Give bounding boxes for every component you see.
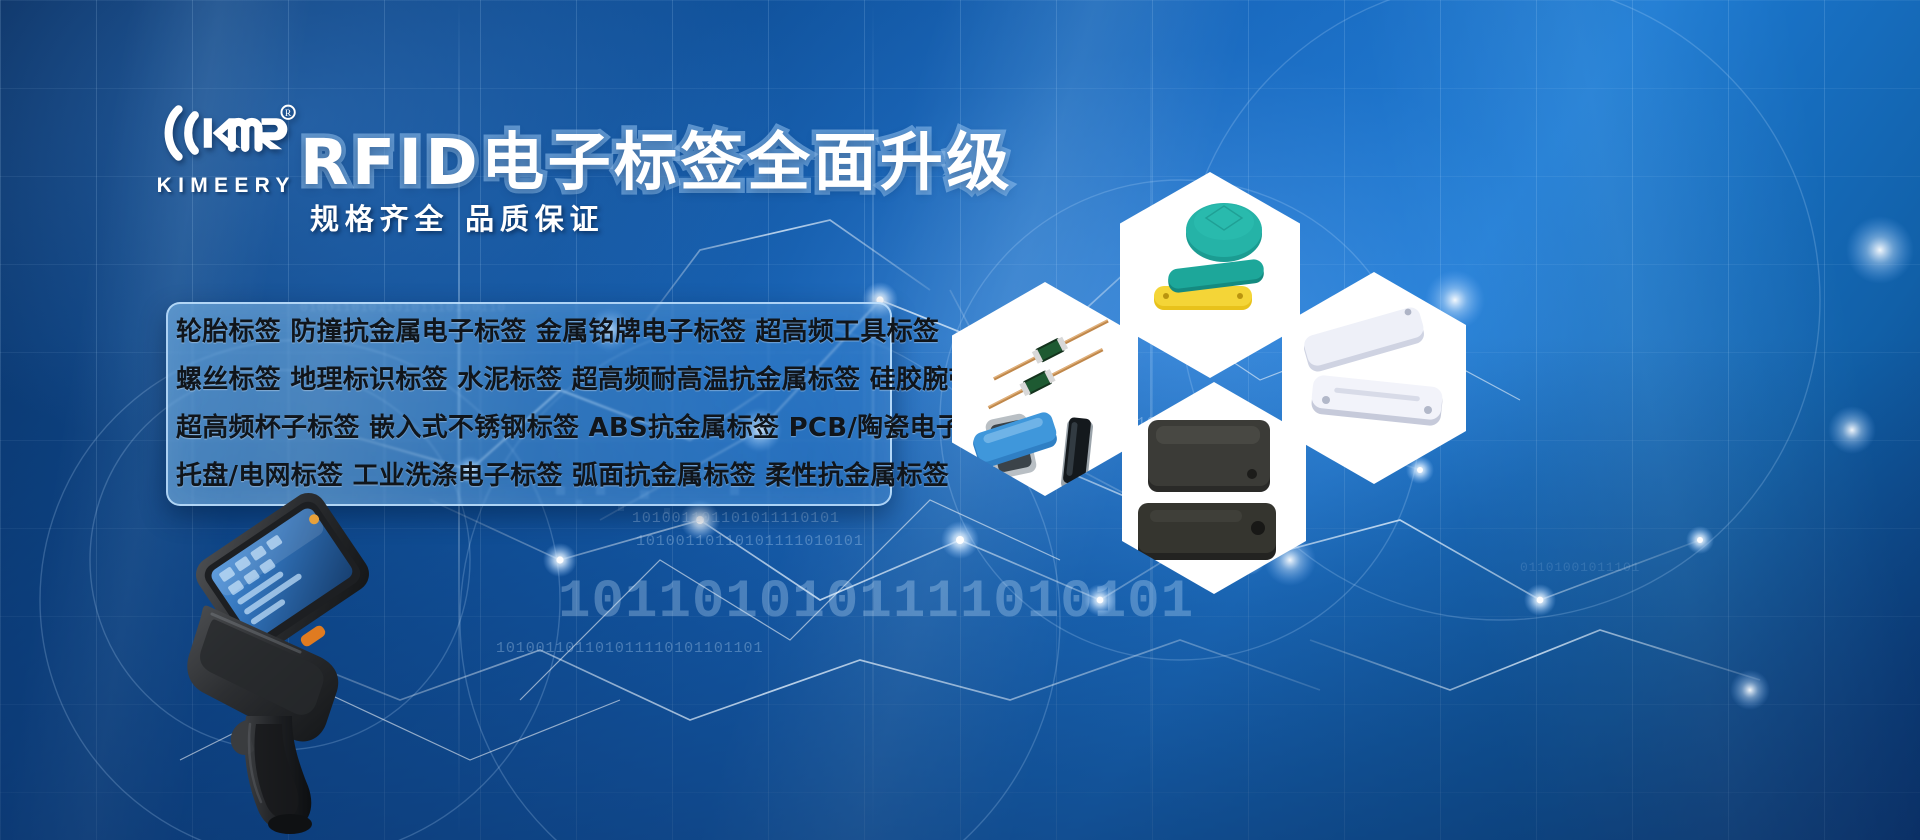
product-list-row: 超高频杯子标签 嵌入式不锈钢标签 ABS抗金属标签 PCB/陶瓷电子标签 [176,404,882,452]
hex-tag-group-blue-abs[interactable] [952,282,1138,496]
white-rigid-tag [1310,374,1443,426]
hex-tag-group-dark-ceramic[interactable] [1122,382,1306,594]
coil-and-abs-tag-products [952,282,1138,496]
dark-anti-metal-tag [1138,503,1276,560]
hex-tag-group-teal-yellow[interactable] [1120,172,1300,378]
binary-text-6: 01101001011101 [1520,560,1640,575]
white-flexible-tag [1302,305,1427,374]
rfid-promo-banner: 101011101011110101 101001101101011110101… [0,0,1920,840]
page-subtitle: 规格齐全 品质保证 [310,196,604,238]
page-title: RFID电子标签全面升级 [300,112,1013,203]
product-list-row: 轮胎标签 防撞抗金属电子标签 金属铭牌电子标签 超高频工具标签 [176,308,882,356]
product-list-panel: 轮胎标签 防撞抗金属电子标签 金属铭牌电子标签 超高频工具标签 螺丝标签 地理标… [166,302,892,506]
black-bar-tag [1060,417,1093,491]
handheld-reader-illustration [150,480,390,840]
teal-yellow-tag-products [1120,172,1300,378]
dark-anti-metal-tag-products [1122,382,1306,594]
white-flexible-tag-products [1282,272,1466,484]
copper-coil-tags [985,314,1111,414]
kimeery-wave-mark-icon: R [148,96,298,170]
hex-tag-group-white-flex[interactable] [1282,272,1466,484]
product-list-row: 螺丝标签 地理标识标签 水泥标签 超高频耐高温抗金属标签 硅胶腕带 [176,356,882,404]
binary-text-4: 101001101101011110101101101 [496,640,763,657]
svg-text:R: R [285,108,292,119]
binary-text-2: 101001101101011110101 [632,510,840,527]
registered-trademark-icon: R [281,106,294,119]
binary-text-3: 10100110110101111010101 [636,533,864,550]
brand-wordmark: KIMEERY [138,174,308,198]
brand-logo[interactable]: R KIMEERY [138,96,308,198]
dark-pcb-tag [1148,420,1270,492]
teal-round-tag [1186,203,1262,262]
handheld-rfid-reader[interactable] [150,480,390,840]
binary-text-large: 1011010101111010101 [558,572,1194,633]
